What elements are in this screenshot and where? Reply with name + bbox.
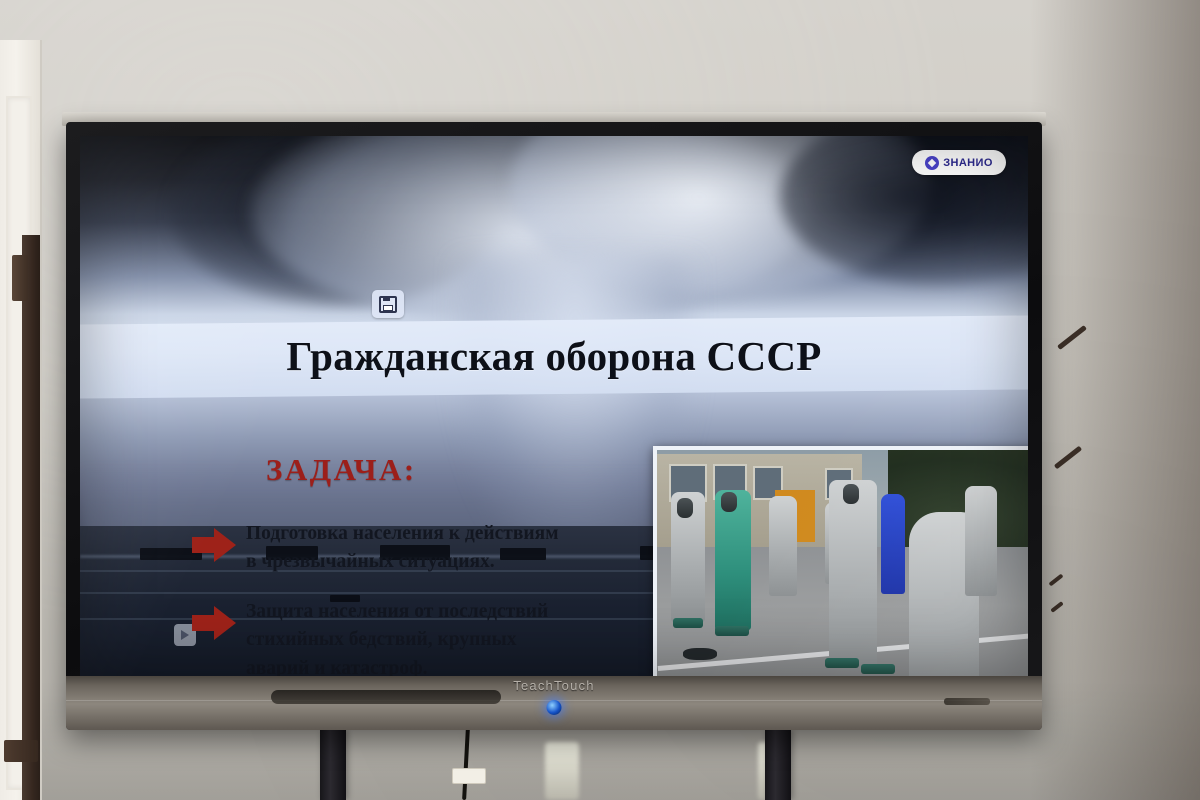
cable-label-tag: [452, 768, 486, 784]
photo-gasmask-2: [721, 492, 737, 512]
door-handle[interactable]: [12, 255, 28, 301]
bullet-item-1: Подготовка населения к действиям в чрезв…: [192, 520, 642, 577]
display-chin: TeachTouch: [66, 676, 1042, 730]
slide-photo: [653, 446, 1028, 676]
photo-dark-gear-1: [683, 648, 717, 660]
photo-boot-3: [825, 658, 859, 668]
photo-person-7: [965, 486, 997, 596]
bullet-2-line-3: аварий и катастроф.: [246, 655, 548, 676]
bullet-1-line-1: Подготовка населения к действиям: [246, 523, 559, 544]
photo-gasmask-3: [843, 484, 859, 504]
znanio-logo-icon: [925, 156, 939, 170]
interactive-display[interactable]: Гражданская оборона СССР ЗНАНИО ЗАДАЧА:: [66, 122, 1042, 730]
photo-person-blue: [881, 494, 905, 594]
photo-person-3: [769, 496, 797, 596]
save-icon[interactable]: [372, 290, 404, 318]
bullet-1-line-2: в чрезвычайных ситуациях.: [246, 551, 495, 572]
arrow-bullet-icon: [192, 528, 236, 562]
znanio-watermark: ЗНАНИО: [912, 150, 1006, 175]
photo-person-5: [829, 480, 877, 670]
display-screen[interactable]: Гражданская оборона СССР ЗНАНИО ЗАДАЧА:: [80, 136, 1028, 676]
next-slide-triangle: [181, 630, 189, 640]
bullet-2-text: Защита населения от последствий стихийны…: [236, 598, 548, 676]
arrow-bullet-icon: [192, 606, 236, 640]
section-heading: ЗАДАЧА:: [266, 452, 417, 488]
bullet-1-text: Подготовка населения к действиям в чрезв…: [236, 520, 559, 577]
presentation-slide[interactable]: Гражданская оборона СССР ЗНАНИО ЗАДАЧА:: [80, 136, 1028, 676]
bullet-item-2: Защита населения от последствий стихийны…: [192, 598, 642, 676]
door-lower-bracket: [4, 740, 38, 762]
page-title: Гражданская оборона СССР: [80, 332, 1028, 380]
ir-sensor-strip: [944, 698, 990, 705]
bullet-2-line-2: стихийных бедствий, крупных: [246, 626, 548, 654]
stand-leg-left: [320, 730, 346, 800]
photo-boot-4: [861, 664, 895, 674]
bullet-2-line-1: Защита населения от последствий: [246, 598, 548, 626]
door-frame: [22, 235, 40, 800]
display-brand-label: TeachTouch: [66, 678, 1042, 693]
save-icon-glyph: [379, 296, 397, 313]
photo-gasmask-1: [677, 498, 693, 518]
znanio-label: ЗНАНИО: [943, 157, 993, 169]
stand-leg-right: [765, 730, 791, 800]
photo-boot-1: [673, 618, 703, 628]
power-led-icon[interactable]: [547, 700, 562, 715]
photo-boot-2: [715, 626, 749, 636]
